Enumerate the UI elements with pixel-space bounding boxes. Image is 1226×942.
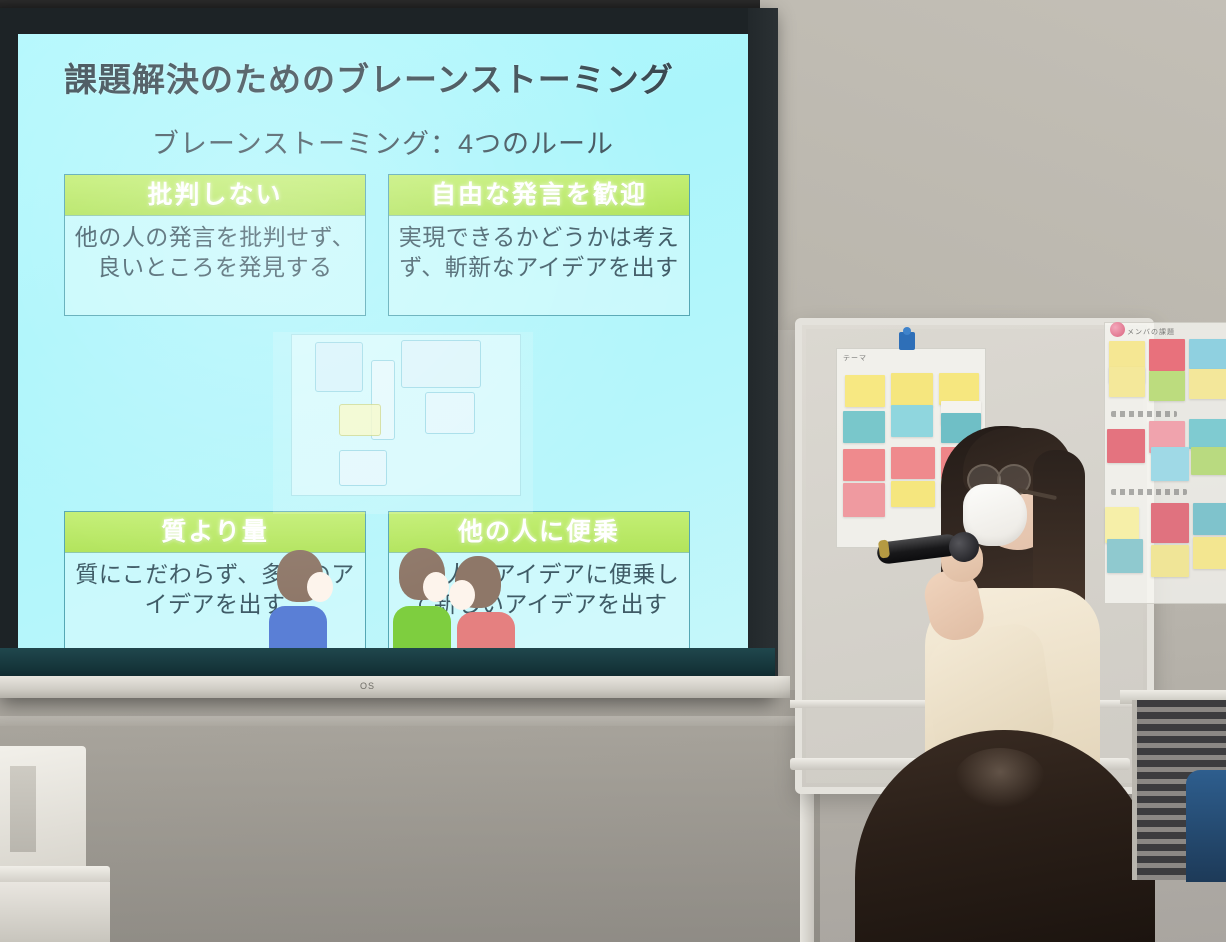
illustration-note bbox=[315, 342, 363, 392]
pink-clip-icon bbox=[1110, 322, 1125, 337]
sticky-note bbox=[1193, 503, 1226, 535]
monitor-screen bbox=[10, 766, 36, 852]
slide-subtitle: ブレーンストーミング：4つのルール bbox=[18, 122, 748, 161]
sticky-note bbox=[1189, 369, 1226, 399]
illustration-note bbox=[339, 450, 387, 486]
sticky-note bbox=[891, 373, 933, 407]
handwritten-label bbox=[1111, 411, 1177, 417]
illustration-note bbox=[425, 392, 475, 434]
sticky-note bbox=[1189, 339, 1226, 369]
sticky-note bbox=[843, 411, 885, 443]
blue-binder-clip-icon bbox=[899, 332, 915, 350]
illustration-note bbox=[339, 404, 381, 436]
sticky-note bbox=[845, 375, 885, 407]
presentation-slide: 課題解決のためのブレーンストーミング ブレーンストーミング：4つのルール 批判し… bbox=[18, 34, 748, 668]
sticky-note bbox=[1151, 545, 1189, 577]
wall-shadow bbox=[0, 690, 820, 942]
left-poster-title: テーマ bbox=[843, 353, 867, 363]
sticky-note bbox=[1151, 447, 1189, 481]
screen-brand-mark: OS bbox=[360, 681, 375, 691]
hair-highlight bbox=[955, 748, 1045, 808]
illustration-note bbox=[401, 340, 481, 388]
rule-body-2: 実現できるかどうかは考えず、斬新なアイデアを出す bbox=[389, 216, 689, 283]
sticky-note bbox=[1109, 367, 1145, 397]
projector-screen: 課題解決のためのブレーンストーミング ブレーンストーミング：4つのルール 批判し… bbox=[0, 8, 775, 698]
screen-right-edge bbox=[748, 8, 778, 698]
rule-body-1: 他の人の発言を批判せず、良いところを発見する bbox=[65, 216, 365, 283]
vent-blue-panel bbox=[1186, 770, 1226, 882]
sticky-note bbox=[1191, 447, 1226, 475]
rule-heading-3: 質より量 bbox=[65, 512, 365, 553]
sticky-note bbox=[843, 483, 885, 517]
slide-title: 課題解決のためのブレーンストーミング bbox=[64, 60, 704, 100]
microphone-band bbox=[878, 539, 890, 558]
right-poster-title: メンバの課題 bbox=[1127, 327, 1175, 337]
equipment-shelf bbox=[0, 882, 110, 942]
rule-box-2: 自由な発言を歓迎 実現できるかどうかは考えず、斬新なアイデアを出す bbox=[388, 174, 690, 316]
brainstorming-illustration bbox=[273, 332, 533, 514]
sticky-note bbox=[1149, 339, 1185, 371]
sticky-note bbox=[1193, 537, 1226, 569]
rule-box-1: 批判しない 他の人の発言を批判せず、良いところを発見する bbox=[64, 174, 366, 316]
sticky-note bbox=[1189, 419, 1226, 449]
rule-heading-2: 自由な発言を歓迎 bbox=[389, 175, 689, 216]
upper-wall-panel bbox=[700, 0, 1226, 330]
sticky-note bbox=[843, 449, 885, 481]
seminar-room-photo: 課題解決のためのブレーンストーミング ブレーンストーミング：4つのルール 批判し… bbox=[0, 0, 1226, 942]
screen-bottom-lip bbox=[0, 676, 790, 698]
sticky-note bbox=[1149, 371, 1185, 401]
rule-heading-4: 他の人に便乗 bbox=[389, 512, 689, 553]
sticky-note bbox=[1151, 503, 1189, 543]
rule-heading-1: 批判しない bbox=[65, 175, 365, 216]
